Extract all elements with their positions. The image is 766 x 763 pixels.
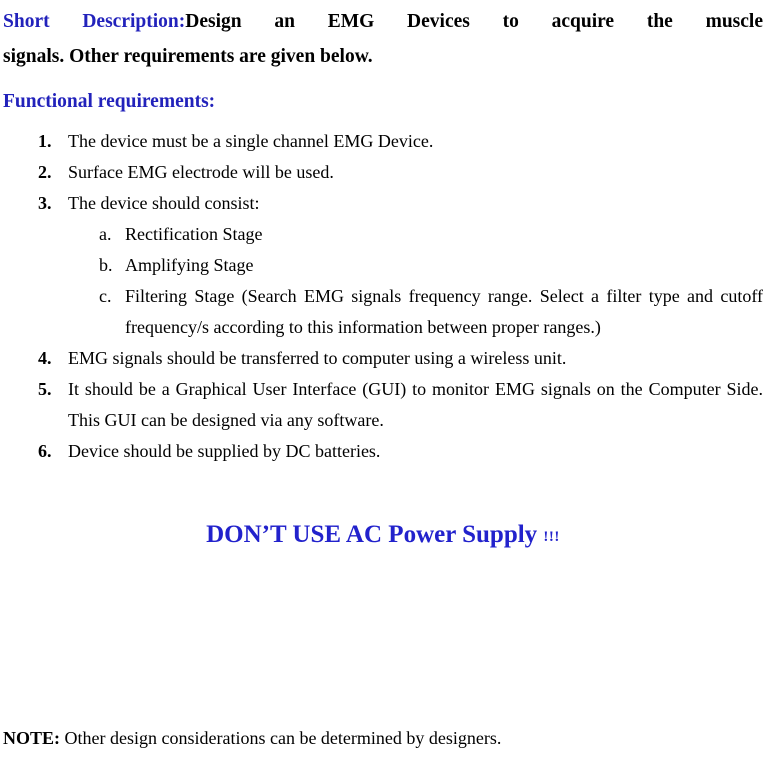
requirement-text: The device should consist: <box>68 188 763 219</box>
power-supply-warning-emphasis: !!! <box>543 529 560 545</box>
requirement-marker: 2. <box>38 157 52 188</box>
requirement-item-4: 4. EMG signals should be transferred to … <box>3 343 763 374</box>
short-description-line-2: signals. Other requirements are given be… <box>3 39 763 74</box>
short-description-label: Short Description: <box>3 11 185 32</box>
requirement-text: EMG signals should be transferred to com… <box>68 343 763 374</box>
requirement-marker: 1. <box>38 126 52 157</box>
power-supply-warning: DON’T USE AC Power Supply !!! <box>3 467 763 553</box>
sub-requirement-text: Amplifying Stage <box>125 255 254 275</box>
sub-requirement-item-c: c. Filtering Stage (Search EMG signals f… <box>68 281 763 343</box>
sub-requirement-text: Filtering Stage (Search EMG signals freq… <box>125 281 763 343</box>
sub-requirement-item-a: a. Rectification Stage <box>68 219 763 250</box>
requirement-marker: 5. <box>38 374 52 405</box>
designer-note: NOTE: Other design considerations can be… <box>3 725 501 751</box>
requirement-text: The device must be a single channel EMG … <box>68 126 763 157</box>
requirement-text: Device should be supplied by DC batterie… <box>68 436 763 467</box>
requirement-item-5: 5. It should be a Graphical User Interfa… <box>3 374 763 436</box>
document-page: Short Description:Design an EMG Devices … <box>0 0 766 763</box>
requirement-item-3: 3. The device should consist: a. Rectifi… <box>3 188 763 343</box>
requirement-marker: 6. <box>38 436 52 467</box>
sub-requirement-marker: c. <box>99 281 112 312</box>
requirement-text: It should be a Graphical User Interface … <box>68 374 763 436</box>
sub-requirements-list: a. Rectification Stage b. Amplifying Sta… <box>68 219 763 343</box>
sub-requirement-marker: a. <box>99 219 112 250</box>
requirement-item-1: 1. The device must be a single channel E… <box>3 126 763 157</box>
sub-requirement-text: Rectification Stage <box>125 224 262 244</box>
short-description-line-1: Short Description:Design an EMG Devices … <box>3 4 763 39</box>
requirement-item-6: 6. Device should be supplied by DC batte… <box>3 436 763 467</box>
requirements-list: 1. The device must be a single channel E… <box>3 126 763 467</box>
sub-requirement-item-b: b. Amplifying Stage <box>68 250 763 281</box>
requirement-text: Surface EMG electrode will be used. <box>68 157 763 188</box>
requirement-marker: 3. <box>38 188 52 219</box>
note-text: Other design considerations can be deter… <box>60 728 501 748</box>
short-description-paragraph: Short Description:Design an EMG Devices … <box>3 0 763 74</box>
note-label: NOTE: <box>3 728 60 748</box>
short-description-line-1-text: Design an EMG Devices to acquire the mus… <box>185 11 763 32</box>
sub-requirement-marker: b. <box>99 250 113 281</box>
functional-requirements-heading: Functional requirements: <box>3 88 763 116</box>
requirement-marker: 4. <box>38 343 52 374</box>
power-supply-warning-text: DON’T USE AC Power Supply <box>206 521 537 548</box>
requirement-item-2: 2. Surface EMG electrode will be used. <box>3 157 763 188</box>
